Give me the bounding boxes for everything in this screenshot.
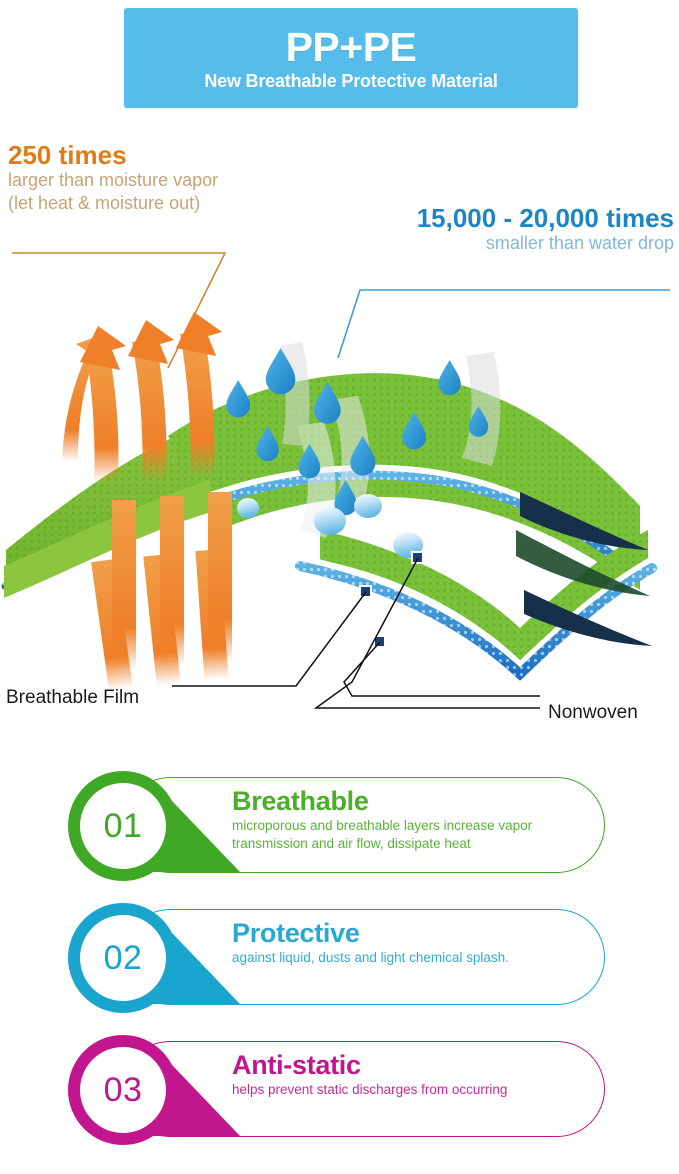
- card-badge: 01: [68, 771, 178, 881]
- card-title: Protective: [232, 919, 600, 947]
- label-breathable-film: Breathable Film: [6, 687, 139, 709]
- feature-card-list: 01 Breathable microporous and breathable…: [0, 765, 679, 1161]
- card-number: 03: [104, 1073, 143, 1107]
- card-number: 02: [104, 941, 143, 975]
- callout-right-headline: 15,000 - 20,000 times: [352, 205, 674, 232]
- feature-card-antistatic[interactable]: 03 Anti-static helps prevent static disc…: [0, 1029, 679, 1149]
- card-badge: 02: [68, 903, 178, 1013]
- feature-card-protective[interactable]: 02 Protective against liquid, dusts and …: [0, 897, 679, 1017]
- card-description: helps prevent static discharges from occ…: [232, 1081, 600, 1099]
- card-badge-inner: 03: [80, 1047, 166, 1133]
- card-number: 01: [104, 809, 143, 843]
- callout-left-line2: (let heat & moisture out): [8, 192, 328, 215]
- banner-title: PP+PE: [286, 27, 417, 68]
- card-text: Anti-static helps prevent static dischar…: [232, 1051, 600, 1099]
- leader-line-blue: [338, 290, 670, 358]
- card-text: Protective against liquid, dusts and lig…: [232, 919, 600, 967]
- header-banner: PP+PE New Breathable Protective Material: [124, 8, 578, 108]
- heat-arrow-tails: [91, 549, 228, 691]
- callout-left-line1: larger than moisture vapor: [8, 169, 328, 192]
- card-badge: 03: [68, 1035, 178, 1145]
- label-nonwoven: Nonwoven: [548, 702, 638, 724]
- feature-card-breathable[interactable]: 01 Breathable microporous and breathable…: [0, 765, 679, 885]
- infographic-root: PP+PE New Breathable Protective Material…: [0, 0, 679, 1174]
- card-title: Breathable: [232, 787, 600, 815]
- card-text: Breathable microporous and breathable la…: [232, 787, 600, 853]
- card-badge-inner: 02: [80, 915, 166, 1001]
- card-description: microporous and breathable layers increa…: [232, 817, 600, 853]
- fabric-cross-section-illustration: [0, 230, 679, 750]
- card-badge-inner: 01: [80, 783, 166, 869]
- banner-subtitle: New Breathable Protective Material: [204, 72, 497, 90]
- callout-breathability: 250 times larger than moisture vapor (le…: [8, 142, 328, 214]
- card-description: against liquid, dusts and light chemical…: [232, 949, 600, 967]
- card-title: Anti-static: [232, 1051, 600, 1079]
- callout-left-headline: 250 times: [8, 142, 328, 169]
